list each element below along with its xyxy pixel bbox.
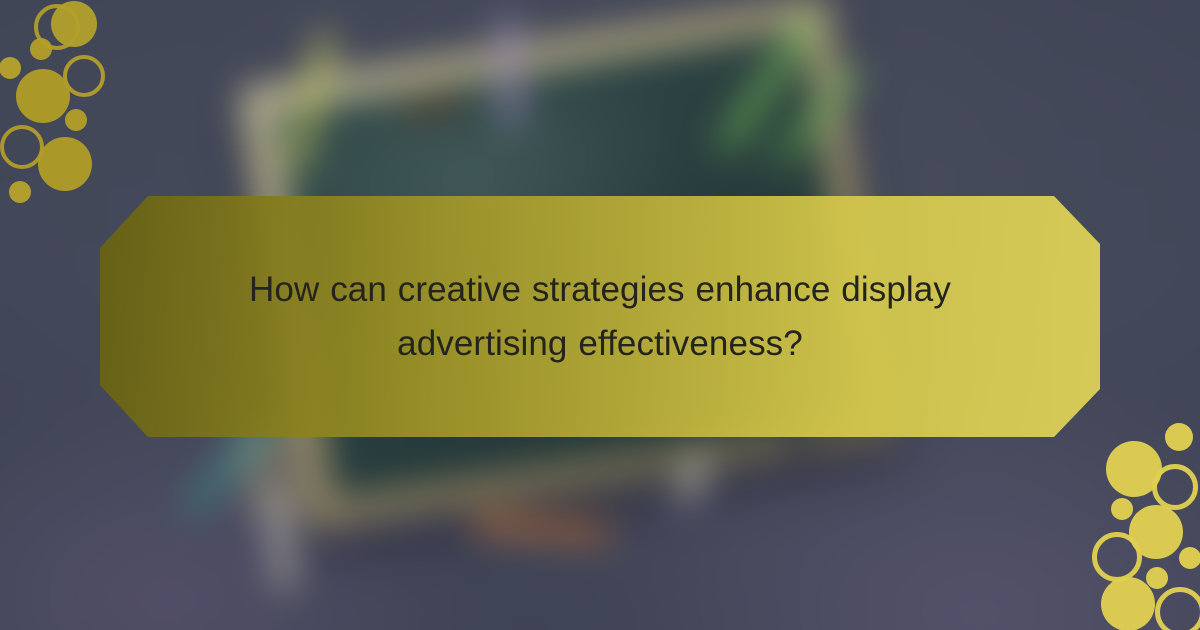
decor-circle-filled [38,137,92,191]
decor-circle-filled [9,181,31,203]
decor-circle-filled [65,109,87,131]
decor-circle-outline [1155,467,1196,508]
headline-text: How can creative strategies enhance disp… [146,263,1054,369]
decor-circle-filled [1179,547,1200,569]
decor-circle-outline [65,57,103,95]
decor-circle-filled [1165,423,1193,451]
decor-circle-filled [1101,577,1155,630]
decor-circle-outline [2,127,42,167]
decor-circle-outline [1158,590,1200,630]
decor-circle-filled [1111,498,1133,520]
decor-circle-filled [16,69,70,123]
decor-circle-filled [0,57,21,79]
decor-circle-filled [30,38,52,60]
decor-circle-filled [51,1,97,47]
question-card: How can creative strategies enhance disp… [0,0,1200,630]
decor-circle-filled [1146,567,1168,589]
decor-circle-outline [1095,535,1140,580]
headline-banner: How can creative strategies enhance disp… [100,196,1100,437]
